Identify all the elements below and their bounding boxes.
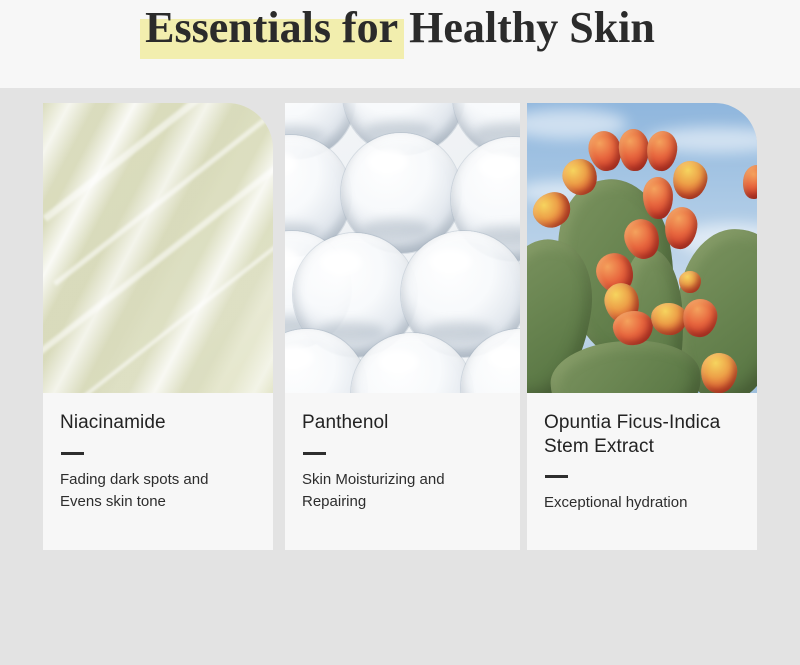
title-divider-dash [61, 452, 84, 455]
ingredient-card-body: Panthenol Skin Moisturizing and Repairin… [285, 393, 520, 550]
cactus-fruit [618, 128, 651, 172]
water-bubbles-texture-image [285, 103, 520, 393]
footer-background [0, 550, 800, 665]
title-divider-dash [303, 452, 326, 455]
cactus-fruit [740, 163, 757, 201]
page-title-highlighted-part: Essentials for [145, 2, 398, 54]
cactus-fruit [669, 158, 710, 202]
ingredient-card-niacinamide[interactable]: Niacinamide Fading dark spots and Evens … [43, 103, 273, 550]
cactus-fruit [679, 271, 701, 293]
prickly-pear-cactus-photo-image [527, 103, 757, 393]
page-title: Essentials for Healthy Skin [0, 2, 800, 54]
ingredient-card-body: Niacinamide Fading dark spots and Evens … [43, 393, 273, 550]
cream-streak [43, 155, 273, 357]
ingredient-title: Niacinamide [60, 411, 255, 435]
ingredient-description: Skin Moisturizing and Repairing [302, 469, 502, 513]
ingredient-description: Fading dark spots and Evens skin tone [60, 469, 255, 513]
ingredient-card-body: Opuntia Ficus-Indica Stem Extract Except… [527, 393, 757, 550]
page-title-rest: Healthy Skin [398, 3, 655, 52]
title-divider-dash [545, 475, 568, 478]
ingredient-card-opuntia-ficus-indica-stem-extract[interactable]: Opuntia Ficus-Indica Stem Extract Except… [527, 103, 757, 550]
ingredient-title: Opuntia Ficus-Indica Stem Extract [544, 411, 739, 459]
prickly-pear-cactus-graphic [527, 103, 757, 393]
cream-texture-graphic [43, 103, 273, 393]
water-bubbles-graphic [285, 103, 520, 393]
ingredient-description: Exceptional hydration [544, 492, 739, 514]
ingredient-card-panthenol[interactable]: Panthenol Skin Moisturizing and Repairin… [285, 103, 520, 550]
ingredient-title: Panthenol [302, 411, 502, 435]
cream-texture-swatch-image [43, 103, 273, 393]
ingredient-card-list: Niacinamide Fading dark spots and Evens … [43, 103, 757, 550]
header-banner: Essentials for Healthy Skin [0, 0, 800, 88]
